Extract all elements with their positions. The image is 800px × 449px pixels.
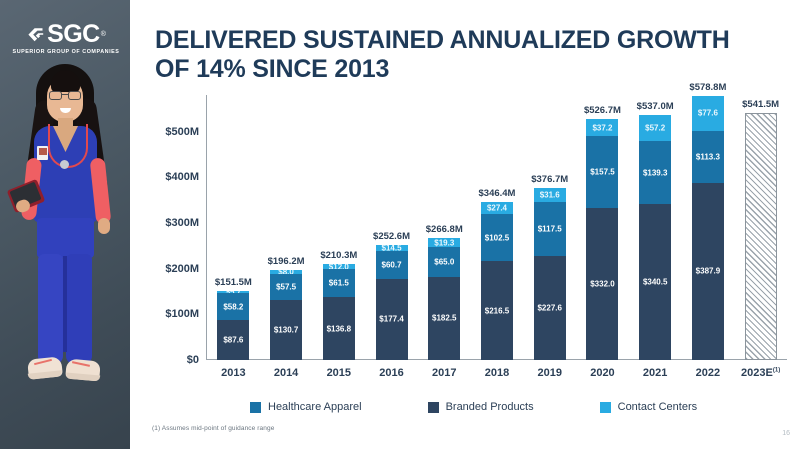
bar-2022[interactable]: $77.6$113.3$387.9	[692, 96, 724, 360]
bar-segment-value: $87.6	[217, 335, 249, 344]
bar-segment-contact-centers[interactable]: $77.6	[692, 96, 724, 131]
bar-2013[interactable]: $5.7$58.2$87.6	[217, 291, 249, 360]
x-axis-tick-2023E: 2023E(1)	[731, 367, 791, 379]
bar-estimate-2023E[interactable]	[745, 113, 777, 360]
bar-segment-value: $117.5	[534, 225, 566, 234]
sgc-logo-tagline: SUPERIOR GROUP OF COMPANIES	[8, 49, 124, 55]
bar-segment-value: $58.2	[217, 302, 249, 311]
bar-segment-value: $130.7	[270, 326, 302, 335]
bar-segment-value: $37.2	[586, 123, 618, 132]
bar-segment-branded-products[interactable]: $130.7	[270, 300, 302, 360]
bar-segment-healthcare-apparel[interactable]: $57.5	[270, 274, 302, 300]
legend-item-branded-products[interactable]: Branded Products	[428, 401, 534, 413]
bar-total-label: $346.4M	[467, 188, 527, 199]
y-axis-tick-label: $400M	[141, 171, 199, 183]
sgc-logo-trademark: ®	[101, 31, 106, 38]
bar-total-label: $196.2M	[256, 256, 316, 267]
bar-segment-value: $216.5	[481, 306, 513, 315]
bar-segment-branded-products[interactable]: $227.6	[534, 256, 566, 360]
bar-segment-value: $102.5	[481, 233, 513, 242]
bar-segment-branded-products[interactable]: $340.5	[639, 204, 671, 360]
x-axis-tick-2016: 2016	[362, 367, 422, 379]
slide-content: DELIVERED SUSTAINED ANNUALIZED GROWTH OF…	[130, 0, 800, 449]
sgc-logo-word: SGC	[47, 22, 100, 47]
bar-total-label: $266.8M	[414, 224, 474, 235]
bar-2015[interactable]: $12.0$61.5$136.8	[323, 264, 355, 360]
sgc-logo: SGC ® SUPERIOR GROUP OF COMPANIES	[8, 22, 124, 55]
bar-segment-contact-centers[interactable]: $37.2	[586, 119, 618, 136]
footnote: (1) Assumes mid-point of guidance range	[152, 425, 274, 432]
x-axis-tick-2019: 2019	[520, 367, 580, 379]
legend-label: Healthcare Apparel	[268, 401, 362, 413]
bar-segment-healthcare-apparel[interactable]: $157.5	[586, 136, 618, 208]
bar-total-label: $376.7M	[520, 174, 580, 185]
y-axis-tick-label: $100M	[141, 308, 199, 320]
bar-segment-value: $136.8	[323, 324, 355, 333]
bar-segment-branded-products[interactable]: $136.8	[323, 297, 355, 360]
bar-segment-value: $139.3	[639, 168, 671, 177]
bar-segment-branded-products[interactable]: $182.5	[428, 277, 460, 360]
bar-segment-value: $27.4	[481, 203, 513, 212]
bar-2014[interactable]: $8.0$57.5$130.7	[270, 270, 302, 360]
bar-2020[interactable]: $37.2$157.5$332.0	[586, 119, 618, 360]
bar-segment-branded-products[interactable]: $87.6	[217, 320, 249, 360]
bar-segment-value: $332.0	[586, 280, 618, 289]
x-axis-tick-2013: 2013	[203, 367, 263, 379]
legend-label: Contact Centers	[618, 401, 697, 413]
bar-segment-value: $340.5	[639, 278, 671, 287]
bar-segment-contact-centers[interactable]: $14.5	[376, 245, 408, 252]
y-axis-tick-label: $500M	[141, 126, 199, 138]
nurse-photo	[0, 60, 130, 449]
y-axis-tick-label: $200M	[141, 263, 199, 275]
bar-segment-value: $57.5	[270, 283, 302, 292]
bar-segment-branded-products[interactable]: $177.4	[376, 279, 408, 360]
bar-segment-healthcare-apparel[interactable]: $102.5	[481, 214, 513, 261]
x-axis-tick-2015: 2015	[309, 367, 369, 379]
bar-segment-value: $387.9	[692, 267, 724, 276]
bar-segment-value: $77.6	[692, 109, 724, 118]
bar-2019[interactable]: $31.6$117.5$227.6	[534, 188, 566, 360]
bar-segment-value: $31.6	[534, 191, 566, 200]
bar-segment-healthcare-apparel[interactable]: $61.5	[323, 269, 355, 297]
x-axis-tick-2021: 2021	[625, 367, 685, 379]
page-number: 16	[782, 430, 790, 437]
x-axis-tick-2020: 2020	[572, 367, 632, 379]
bar-segment-healthcare-apparel[interactable]: $65.0	[428, 247, 460, 277]
x-axis-tick-2014: 2014	[256, 367, 316, 379]
bar-segment-healthcare-apparel[interactable]: $113.3	[692, 131, 724, 183]
chart-plot-area: $0$100M$200M$300M$400M$500M$151.5M2013$5…	[207, 95, 787, 360]
brand-sidebar: SGC ® SUPERIOR GROUP OF COMPANIES	[0, 0, 130, 449]
bar-segment-healthcare-apparel[interactable]: $58.2	[217, 293, 249, 320]
x-axis-tick-2018: 2018	[467, 367, 527, 379]
bar-segment-healthcare-apparel[interactable]: $60.7	[376, 251, 408, 279]
bar-2016[interactable]: $14.5$60.7$177.4	[376, 245, 408, 360]
bar-total-label: $210.3M	[309, 250, 369, 261]
bar-segment-value: $57.2	[639, 123, 671, 132]
bar-segment-branded-products[interactable]: $332.0	[586, 208, 618, 360]
bar-segment-value: $61.5	[323, 279, 355, 288]
bar-total-label: $526.7M	[572, 105, 632, 116]
legend-swatch-icon	[600, 402, 611, 413]
bar-segment-healthcare-apparel[interactable]: $139.3	[639, 141, 671, 205]
x-axis-tick-2022: 2022	[678, 367, 738, 379]
x-axis-tick-2017: 2017	[414, 367, 474, 379]
legend-swatch-icon	[428, 402, 439, 413]
bar-total-label: $537.0M	[625, 101, 685, 112]
bar-segment-value: $19.3	[428, 238, 460, 247]
bar-segment-contact-centers[interactable]: $27.4	[481, 202, 513, 215]
bar-segment-healthcare-apparel[interactable]: $117.5	[534, 202, 566, 256]
bar-2021[interactable]: $57.2$139.3$340.5	[639, 115, 671, 360]
bar-segment-value: $227.6	[534, 303, 566, 312]
sgc-chevron-mark-icon	[26, 25, 46, 45]
bar-2017[interactable]: $19.3$65.0$182.5	[428, 238, 460, 360]
bar-segment-value: $157.5	[586, 168, 618, 177]
bar-total-label: $252.6M	[362, 231, 422, 242]
bar-segment-value: $14.5	[376, 245, 408, 252]
bar-segment-value: $65.0	[428, 257, 460, 266]
bar-segment-branded-products[interactable]: $216.5	[481, 261, 513, 360]
bar-total-label: $541.5M	[731, 99, 791, 110]
legend-swatch-icon	[250, 402, 261, 413]
bar-segment-branded-products[interactable]: $387.9	[692, 183, 724, 360]
bar-segment-contact-centers[interactable]: $19.3	[428, 238, 460, 247]
page-title: DELIVERED SUSTAINED ANNUALIZED GROWTH OF…	[155, 26, 755, 83]
y-axis-tick-label: $0	[141, 354, 199, 366]
legend-item-contact-centers[interactable]: Contact Centers	[600, 401, 697, 413]
bar-2018[interactable]: $27.4$102.5$216.5	[481, 202, 513, 360]
bar-segment-contact-centers[interactable]: $31.6	[534, 188, 566, 202]
bar-total-label: $151.5M	[203, 277, 263, 288]
bar-segment-value: $60.7	[376, 261, 408, 270]
bar-segment-value: $182.5	[428, 314, 460, 323]
legend-label: Branded Products	[446, 401, 534, 413]
revenue-stacked-bar-chart: $0$100M$200M$300M$400M$500M$151.5M2013$5…	[145, 95, 795, 385]
bar-segment-contact-centers[interactable]: $57.2	[639, 115, 671, 141]
bar-total-label: $578.8M	[678, 82, 738, 93]
y-axis-tick-label: $300M	[141, 217, 199, 229]
chart-legend: Healthcare ApparelBranded ProductsContac…	[250, 401, 697, 413]
bar-segment-value: $113.3	[692, 152, 724, 161]
bar-segment-value: $177.4	[376, 315, 408, 324]
legend-item-healthcare-apparel[interactable]: Healthcare Apparel	[250, 401, 362, 413]
